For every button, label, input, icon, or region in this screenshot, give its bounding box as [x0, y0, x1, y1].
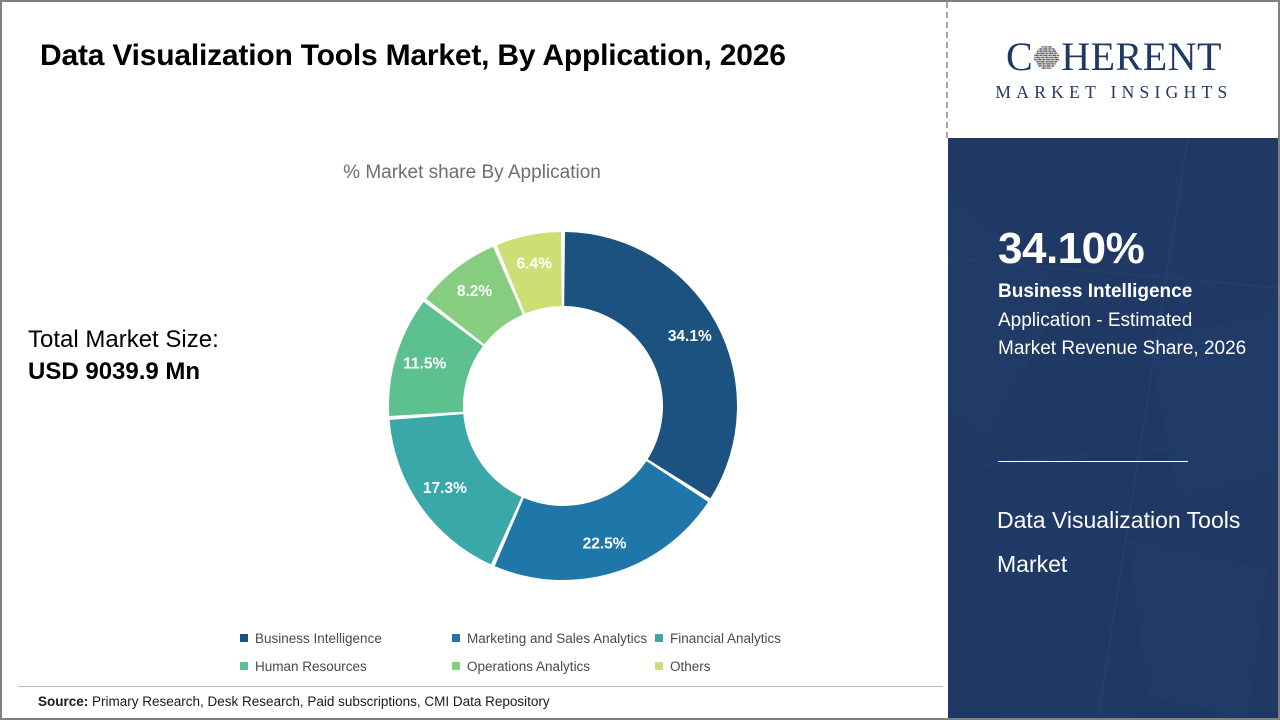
panel-market-name: Data Visualization Tools Market [997, 498, 1247, 587]
stat-description: Application - Estimated Market Revenue S… [998, 307, 1248, 365]
stat-segment-name: Business Intelligence [998, 280, 1248, 304]
legend-swatch-icon [452, 662, 460, 670]
logo-tagline: MARKET INSIGHTS [995, 82, 1232, 103]
logo-wordmark-after: HERENT [1061, 37, 1222, 77]
legend-swatch-icon [655, 634, 663, 642]
brand-logo: C HERENT MARKET INSIGHTS [948, 2, 1280, 138]
legend-label: Others [670, 659, 711, 674]
legend-item-business-intelligence[interactable]: Business Intelligence [240, 631, 452, 646]
donut-slice-label: 17.3% [423, 480, 467, 497]
highlight-stat-block: 34.10% Business Intelligence Application… [998, 226, 1248, 364]
legend-item-others[interactable]: Others [655, 659, 815, 674]
total-market-size-block: Total Market Size: USD 9039.9 Mn [28, 324, 328, 389]
right-highlight-panel: 34.10% Business Intelligence Application… [948, 138, 1280, 718]
donut-slice[interactable] [495, 461, 708, 580]
legend-swatch-icon [240, 662, 248, 670]
donut-slice-label: 22.5% [583, 535, 627, 552]
donut-slice-label: 34.1% [668, 328, 712, 345]
chart-legend: Business Intelligence Marketing and Sale… [240, 624, 840, 680]
donut-slice-label: 6.4% [517, 256, 553, 273]
left-content-panel: Data Visualization Tools Market, By Appl… [2, 2, 947, 718]
donut-chart-svg: 34.1%22.5%17.3%11.5%8.2%6.4% [389, 232, 737, 580]
source-text: Primary Research, Desk Research, Paid su… [88, 694, 549, 709]
logo-wordmark-before: C [1006, 37, 1033, 77]
legend-label: Business Intelligence [255, 631, 382, 646]
legend-label: Operations Analytics [467, 659, 590, 674]
donut-slice-label: 8.2% [457, 283, 493, 300]
source-divider [18, 686, 943, 687]
donut-slice-label: 11.5% [403, 355, 446, 372]
globe-icon [1033, 44, 1060, 71]
legend-item-human-resources[interactable]: Human Resources [240, 659, 452, 674]
donut-slice-group [389, 232, 737, 580]
legend-item-operations-analytics[interactable]: Operations Analytics [452, 659, 655, 674]
chart-subtitle: % Market share By Application [2, 162, 942, 184]
legend-swatch-icon [240, 634, 248, 642]
legend-swatch-icon [655, 662, 663, 670]
legend-item-financial-analytics[interactable]: Financial Analytics [655, 631, 815, 646]
source-note: Source: Primary Research, Desk Research,… [38, 694, 550, 709]
total-market-size-value: USD 9039.9 Mn [28, 356, 328, 388]
donut-chart: 34.1%22.5%17.3%11.5%8.2%6.4% [389, 232, 737, 580]
logo-wordmark: C HERENT [1006, 37, 1222, 77]
legend-row: Business Intelligence Marketing and Sale… [240, 624, 840, 652]
legend-label: Financial Analytics [670, 631, 781, 646]
legend-label: Human Resources [255, 659, 367, 674]
donut-slice[interactable] [564, 232, 737, 498]
legend-swatch-icon [452, 634, 460, 642]
legend-row: Human Resources Operations Analytics Oth… [240, 652, 840, 680]
legend-item-marketing-and-sales-analytics[interactable]: Marketing and Sales Analytics [452, 631, 655, 646]
source-prefix: Source: [38, 694, 88, 709]
stat-value: 34.10% [998, 226, 1248, 272]
legend-label: Marketing and Sales Analytics [467, 631, 647, 646]
infographic-page: Data Visualization Tools Market, By Appl… [0, 0, 1280, 720]
total-market-size-label: Total Market Size: [28, 324, 328, 356]
panel-divider [998, 461, 1188, 462]
page-title: Data Visualization Tools Market, By Appl… [40, 32, 910, 81]
